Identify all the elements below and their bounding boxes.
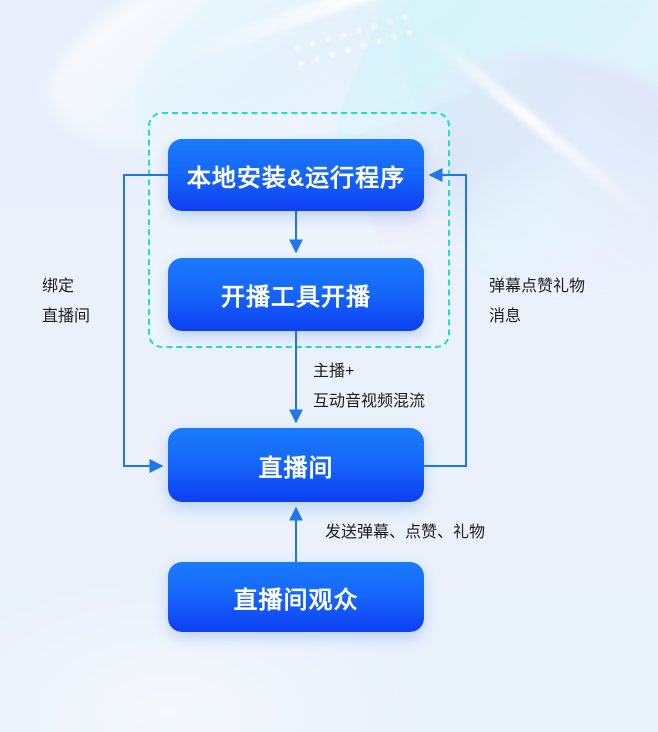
edge-label-mix-line2: 互动音视频混流 [313, 387, 425, 417]
edge-label-send-line1: 发送弹幕、点赞、礼物 [325, 518, 485, 548]
edge-label-send-interaction: 发送弹幕、点赞、礼物 [325, 518, 485, 548]
edge-label-bind-line1: 绑定 [42, 272, 90, 302]
node-local-install-run[interactable]: 本地安装&运行程序 [168, 139, 424, 211]
node-live-room[interactable]: 直播间 [168, 428, 424, 502]
edge-label-bind-room: 绑定 直播间 [42, 272, 90, 332]
edge-install-to-room-left [124, 175, 168, 466]
diagram-canvas: 本地安装&运行程序 开播工具开播 直播间 直播间观众 绑定 直播间 弹幕点赞礼物… [0, 0, 658, 732]
node-live-room-audience[interactable]: 直播间观众 [168, 562, 424, 632]
edge-label-danmu-line1: 弹幕点赞礼物 [489, 272, 585, 302]
edge-label-danmu-message: 弹幕点赞礼物 消息 [489, 272, 585, 332]
edge-label-danmu-line2: 消息 [489, 302, 585, 332]
edge-room-to-install-right [424, 175, 466, 466]
edge-label-mix-line1: 主播+ [313, 357, 425, 387]
node-streaming-tool[interactable]: 开播工具开播 [168, 258, 424, 331]
edge-label-bind-line2: 直播间 [42, 302, 90, 332]
edge-label-av-mix: 主播+ 互动音视频混流 [313, 357, 425, 417]
